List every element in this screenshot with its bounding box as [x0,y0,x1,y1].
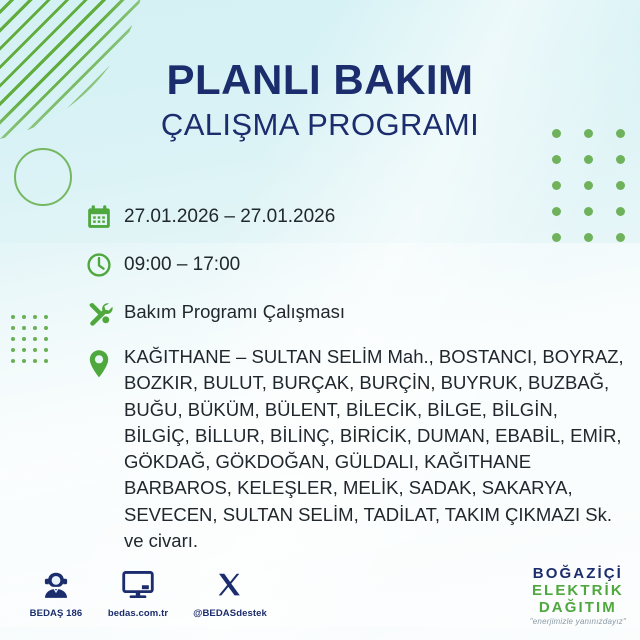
footer-call-center-label: BEDAŞ 186 [18,608,94,619]
planned-maintenance-poster: PLANLI BAKIM ÇALIŞMA PROGRAMI 27.01 [0,0,640,640]
footer-social-x[interactable]: @BEDASdestek [182,570,278,619]
page-subtitle: ÇALIŞMA PROGRAMI [0,106,640,143]
dot [616,155,625,164]
calendar-icon [86,200,124,234]
dot [33,326,37,330]
dot [44,315,48,319]
dot [11,337,15,341]
info-row-date: 27.01.2026 – 27.01.2026 [86,200,631,234]
clock-icon [86,248,124,282]
poster-footer: BEDAŞ 186 bedas.com.tr @BEDASdestek BOĞA… [0,558,640,640]
dot [22,326,26,330]
circle-outline-decoration [14,148,72,206]
dot [22,337,26,341]
dot [33,315,37,319]
page-title: PLANLI BAKIM [0,58,640,102]
footer-call-center[interactable]: BEDAŞ 186 [18,570,94,619]
dot [22,315,26,319]
tools-icon [86,296,124,330]
dot [22,359,26,363]
dot [552,155,561,164]
location-pin-icon [86,344,124,381]
footer-website-label: bedas.com.tr [96,608,180,619]
dot [11,348,15,352]
dot [44,359,48,363]
dot [33,337,37,341]
footer-website[interactable]: bedas.com.tr [96,570,180,619]
logo-line-bogazici: BOĞAZİÇİ [530,566,626,583]
footer-social-label: @BEDASdestek [182,608,278,619]
dot-grid-left-decoration [8,312,52,367]
dot [11,326,15,330]
dot [44,337,48,341]
work-type-text: Bakım Programı Çalışması [124,296,345,325]
x-twitter-icon [216,570,244,600]
dot [22,348,26,352]
dot [616,181,625,190]
dot [33,359,37,363]
dot [11,315,15,319]
logo-line-dagitim: DAĞITIM [530,600,626,617]
dot [584,155,593,164]
time-range-text: 09:00 – 17:00 [124,248,240,277]
info-row-work-type: Bakım Programı Çalışması [86,296,631,330]
poster-header: PLANLI BAKIM ÇALIŞMA PROGRAMI [0,58,640,143]
logo-line-elektrik: ELEKTRİK [530,583,626,600]
dot [11,359,15,363]
address-text: KAĞITHANE – SULTAN SELİM Mah., BOSTANCI,… [124,344,624,554]
dot [584,181,593,190]
dot [44,326,48,330]
support-agent-icon [41,570,71,600]
info-list: 27.01.2026 – 27.01.2026 09:00 – 17:00 Ba… [86,200,631,568]
info-row-time: 09:00 – 17:00 [86,248,631,282]
dot [33,348,37,352]
date-range-text: 27.01.2026 – 27.01.2026 [124,200,335,229]
dot [44,348,48,352]
info-row-address: KAĞITHANE – SULTAN SELİM Mah., BOSTANCI,… [86,344,631,554]
monitor-icon [122,570,154,600]
company-logo: BOĞAZİÇİ ELEKTRİK DAĞITIM "enerjimizle y… [530,566,626,627]
dot [552,181,561,190]
logo-tagline: "enerjimizle yanınızdayız" [530,618,626,627]
